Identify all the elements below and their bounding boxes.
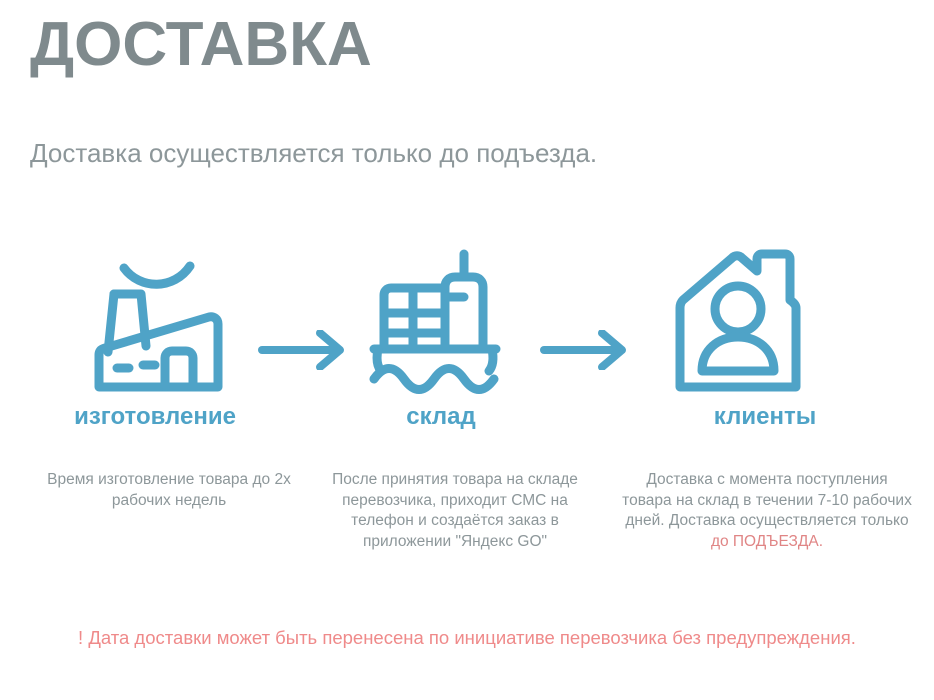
page-subtitle: Доставка осуществляется только до подъез… — [30, 136, 650, 171]
arrow-right-icon — [258, 330, 350, 370]
footer-warning-note: ! Дата доставки может быть перенесена по… — [47, 626, 887, 651]
cargo-ship-icon — [368, 246, 513, 396]
step-label-manufacturing: изготовление — [0, 403, 310, 431]
step-description-clients-main: Доставка с момента поступления товара на… — [622, 471, 912, 529]
page-title: ДОСТАВКА — [30, 12, 372, 77]
step-description-warehouse: После принятия товара на складе перевозч… — [310, 470, 600, 552]
house-person-icon — [672, 246, 817, 396]
delivery-flow-row — [0, 246, 934, 396]
step-description-manufacturing: Время изготовление товара до 2х рабочих … — [34, 470, 304, 511]
delivery-slide: ДОСТАВКА Доставка осуществляется только … — [0, 0, 934, 700]
step-label-row: изготовление склад клиенты — [0, 403, 934, 437]
step-description-clients: Доставка с момента поступления товара на… — [622, 470, 912, 552]
step-description-clients-highlight: до ПОДЪЕЗДА. — [711, 533, 823, 550]
step-label-clients: клиенты — [610, 403, 920, 431]
arrow-right-icon — [540, 330, 632, 370]
step-label-warehouse: склад — [310, 403, 572, 431]
factory-icon — [88, 246, 248, 396]
step-description-row: Время изготовление товара до 2х рабочих … — [0, 470, 934, 600]
